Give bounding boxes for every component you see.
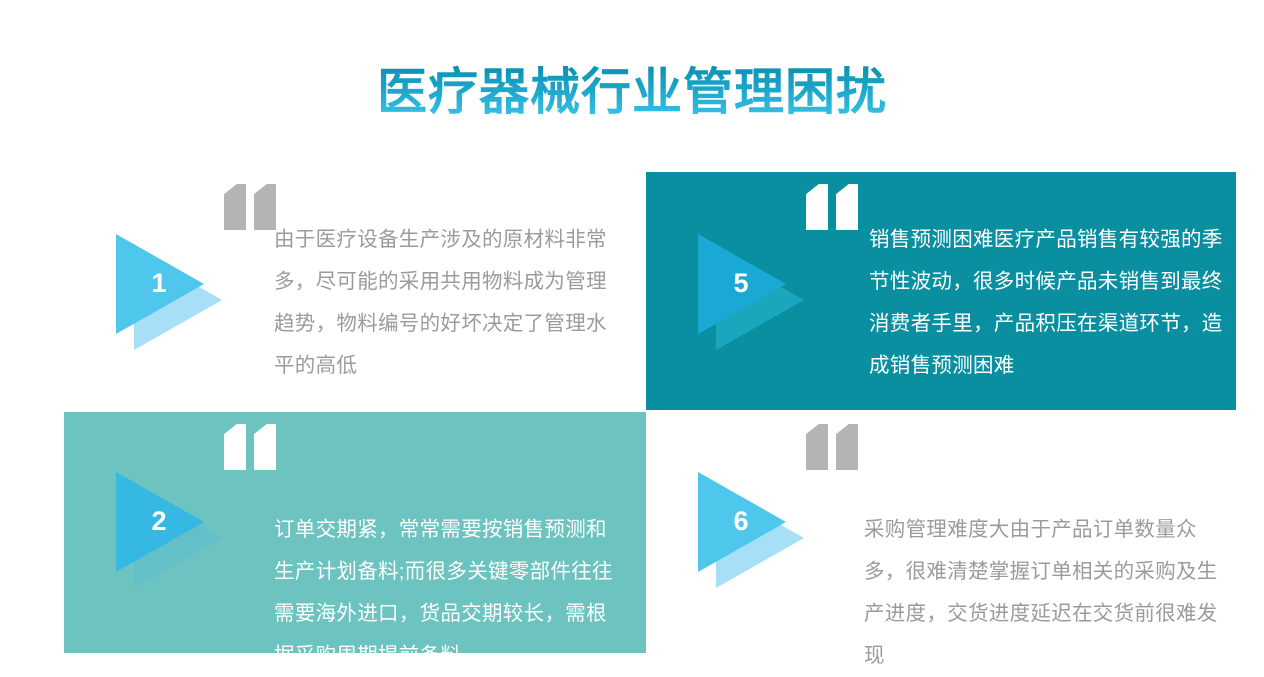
card-number-1: 1 bbox=[142, 266, 176, 300]
card-number-6: 6 bbox=[724, 504, 758, 538]
card-text-6: 采购管理难度大由于产品订单数量众多，很难清楚掌握订单相关的采购及生产进度，交货进… bbox=[864, 509, 1224, 677]
card-text-2: 订单交期紧，常常需要按销售预测和生产计划备料;而很多关键零部件往往需要海外进口，… bbox=[274, 509, 626, 677]
card-number-5: 5 bbox=[724, 266, 758, 300]
arrow-badge-1: 1 bbox=[116, 234, 228, 350]
quote-card-2[interactable]: 2 订单交期紧，常常需要按销售预测和生产计划备料;而很多关键零部件往往需要海外进… bbox=[64, 412, 646, 653]
quote-card-5[interactable]: 5 销售预测困难医疗产品销售有较强的季节性波动，很多时候产品未销售到最终消费者手… bbox=[646, 172, 1236, 410]
card-text-5: 销售预测困难医疗产品销售有较强的季节性波动，很多时候产品未销售到最终消费者手里，… bbox=[869, 219, 1229, 387]
arrow-badge-2: 2 bbox=[116, 472, 228, 588]
quote-card-6[interactable]: 6 采购管理难度大由于产品订单数量众多，很难清楚掌握订单相关的采购及生产进度，交… bbox=[646, 412, 1236, 653]
card-text-1: 由于医疗设备生产涉及的原材料非常多，尽可能的采用共用物料成为管理趋势，物料编号的… bbox=[274, 219, 624, 387]
open-quote-icon-6 bbox=[806, 424, 870, 476]
open-quote-icon-2 bbox=[224, 424, 288, 476]
arrow-badge-5: 5 bbox=[698, 234, 810, 350]
card-number-2: 2 bbox=[142, 504, 176, 538]
arrow-badge-6: 6 bbox=[698, 472, 810, 588]
cards-board: 1 由于医疗设备生产涉及的原材料非常多，尽可能的采用共用物料成为管理趋势，物料编… bbox=[0, 0, 1264, 653]
open-quote-icon-5 bbox=[806, 184, 870, 236]
quote-card-1[interactable]: 1 由于医疗设备生产涉及的原材料非常多，尽可能的采用共用物料成为管理趋势，物料编… bbox=[64, 172, 646, 410]
